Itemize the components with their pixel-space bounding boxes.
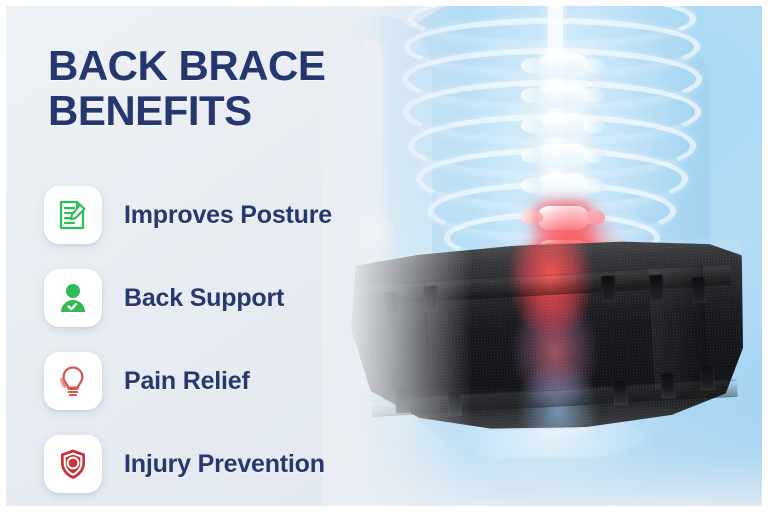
page-title-line-2: BENEFITS (48, 89, 388, 134)
benefit-item-back-support: Back Support (44, 267, 424, 329)
content-column: BACK BRACE BENEFITS Improves Posture (6, 6, 436, 506)
benefit-item-improves-posture: Improves Posture (44, 184, 424, 246)
benefit-label: Back Support (124, 284, 284, 313)
brace-velcro-tab (691, 276, 706, 303)
poster-canvas: BACK BRACE BENEFITS Improves Posture (6, 6, 762, 506)
benefits-list: Improves Posture Back Support (44, 184, 424, 506)
benefit-label: Injury Prevention (124, 450, 325, 479)
shield-icon (58, 448, 88, 480)
benefit-label: Pain Relief (124, 367, 250, 396)
benefit-icon-badge (44, 269, 102, 327)
benefit-label: Improves Posture (124, 201, 332, 230)
benefit-item-injury-prevention: Injury Prevention (44, 433, 424, 495)
vertebra (538, 54, 588, 78)
brace-velcro-tab (649, 275, 664, 302)
document-checklist-icon (58, 199, 88, 231)
lightbulb-icon (59, 365, 87, 397)
vertebra (538, 144, 588, 168)
person-icon (58, 282, 88, 314)
brace-velcro-tab (601, 275, 616, 302)
page-title: BACK BRACE BENEFITS (48, 44, 388, 133)
benefit-icon-badge (44, 186, 102, 244)
page-title-line-1: BACK BRACE (48, 44, 388, 89)
benefit-icon-badge (44, 435, 102, 493)
poster-root: BACK BRACE BENEFITS Improves Posture (0, 0, 768, 512)
vertebra (538, 114, 588, 138)
vertebra (538, 84, 588, 108)
benefit-item-pain-relief: Pain Relief (44, 350, 424, 412)
benefit-icon-badge (44, 352, 102, 410)
